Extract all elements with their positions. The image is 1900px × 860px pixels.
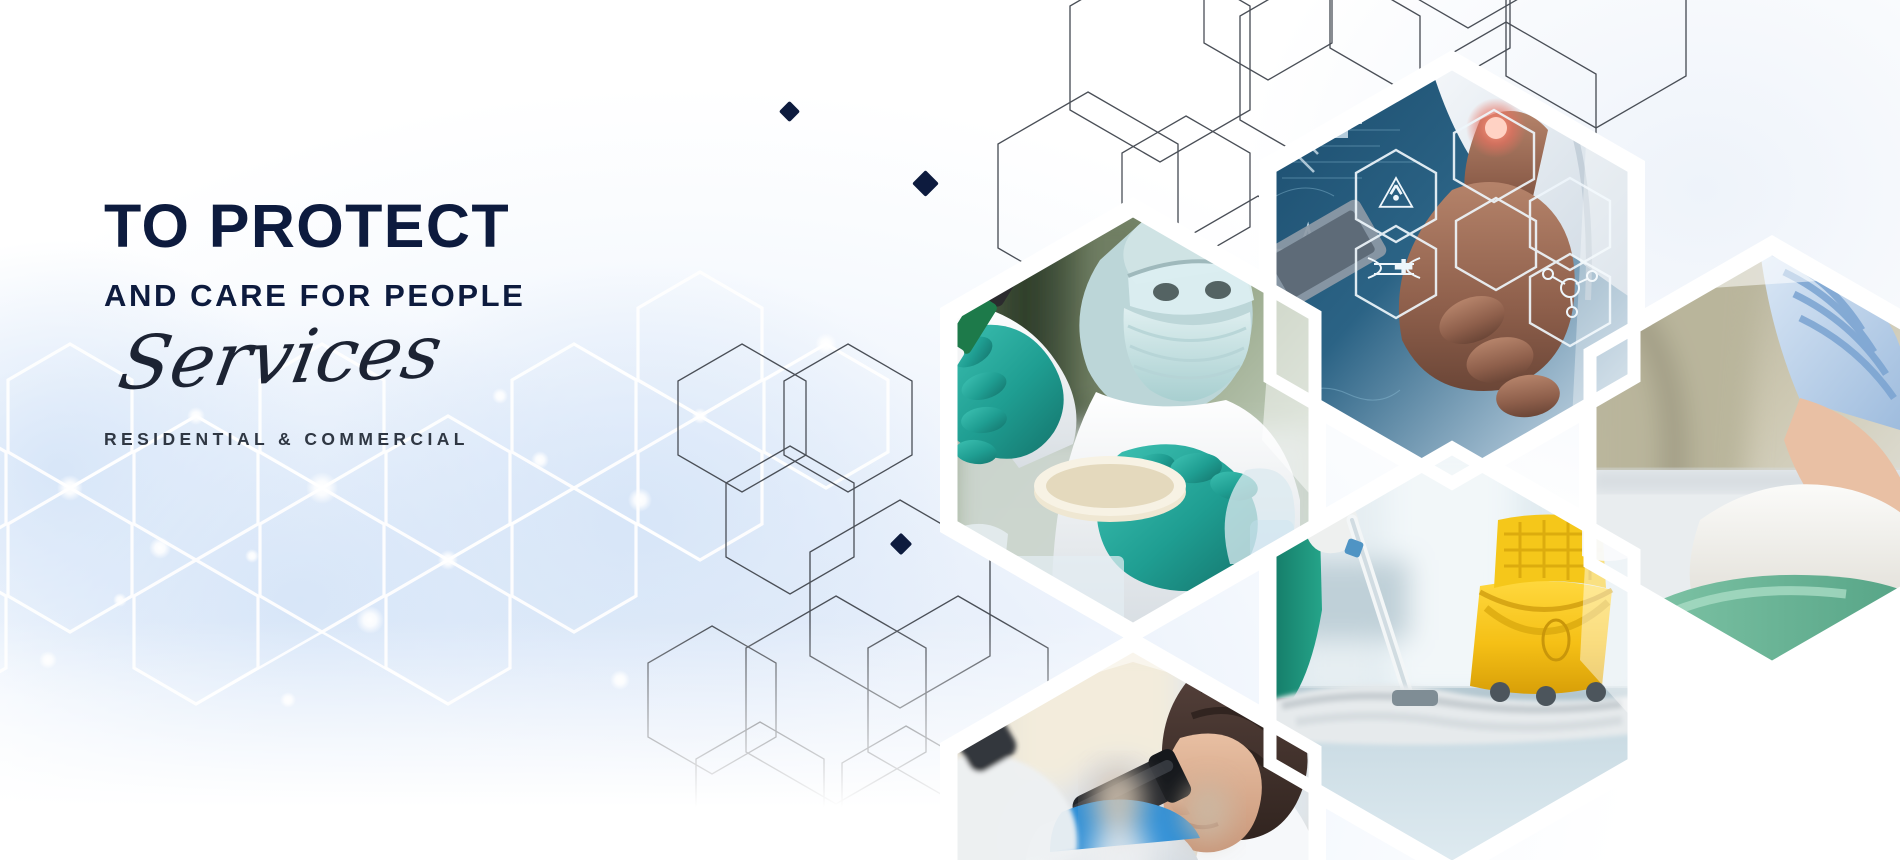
service-scope-caption: RESIDENTIAL & COMMERCIAL <box>104 429 744 450</box>
hero-copy-block: TO PROTECT AND CARE FOR PEOPLE Services … <box>104 196 744 450</box>
script-wordmark-services: Services <box>114 303 756 401</box>
page-title: TO PROTECT <box>104 196 744 257</box>
services-hero-banner: TO PROTECT AND CARE FOR PEOPLE Services … <box>0 0 1900 860</box>
